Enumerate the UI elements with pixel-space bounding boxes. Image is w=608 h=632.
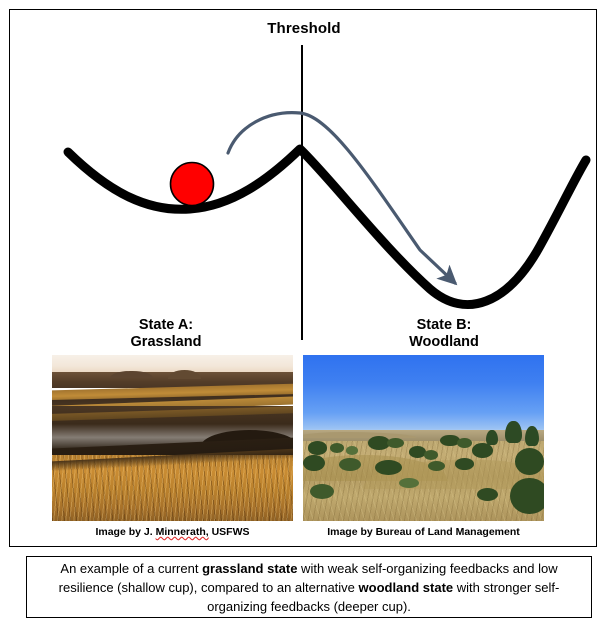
woodland-shrub-16 (455, 458, 474, 470)
caption-part-1: An example of a current (60, 561, 202, 576)
caption-bold-grassland-state: grassland state (202, 561, 297, 576)
credit-prefix: Image by J. (95, 526, 155, 538)
woodland-shrub-13 (339, 458, 361, 471)
caption-bold-woodland-state: woodland state (359, 580, 454, 595)
state-b-title: State B: (373, 317, 515, 334)
woodland-shrub-4 (457, 438, 471, 448)
state-a-title: State A: (95, 317, 237, 334)
grassland-photo (52, 355, 293, 521)
caption-text: An example of a current grassland state … (27, 559, 591, 616)
figure-root: Threshold State A: Grassland State B: Wo… (0, 0, 608, 632)
woodland-shrub-12 (303, 455, 325, 472)
woodland-photo-credit: Image by Bureau of Land Management (303, 526, 544, 538)
woodland-juniper-3 (486, 430, 498, 445)
woodland-shrub-20 (477, 488, 499, 501)
state-b-name: Woodland (373, 334, 515, 351)
woodland-shrub-9 (424, 450, 438, 460)
woodland-juniper-2 (525, 426, 539, 446)
woodland-shrub-2 (387, 438, 404, 448)
credit-misspelled-word: Minnerath, (156, 526, 209, 538)
state-b-label: State B: Woodland (373, 317, 515, 351)
caption-box: An example of a current grassland state … (26, 556, 592, 618)
woodland-photo (303, 355, 544, 521)
woodland-shrub-11 (515, 448, 544, 475)
woodland-shrub-6 (330, 443, 344, 453)
woodland-shrub-19 (399, 478, 418, 488)
woodland-shrub-14 (375, 460, 402, 475)
woodland-shrub-5 (308, 441, 327, 454)
state-a-name: Grassland (95, 334, 237, 351)
woodland-shrub-10 (472, 443, 494, 458)
woodland-shrub-17 (510, 478, 544, 515)
woodland-shrub-7 (346, 446, 358, 454)
grassland-photo-credit: Image by J. Minnerath, USFWS (52, 526, 293, 538)
state-a-label: State A: Grassland (95, 317, 237, 351)
threshold-label: Threshold (250, 20, 358, 37)
credit-suffix: USFWS (209, 526, 250, 538)
woodland-juniper-1 (505, 421, 522, 443)
